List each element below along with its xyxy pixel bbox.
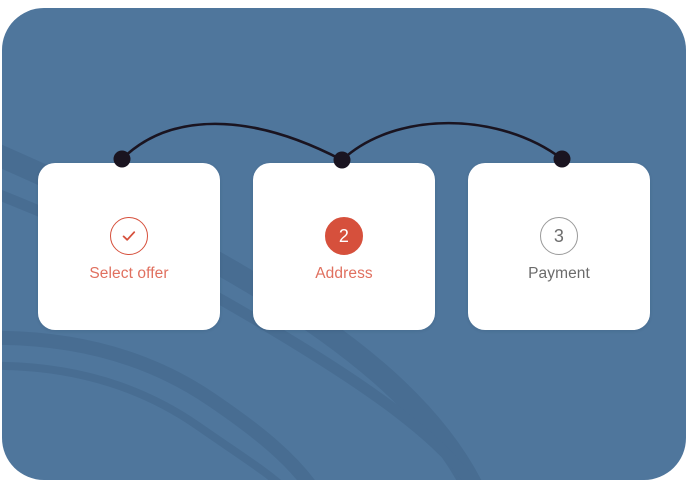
- stepper-cards: Select offer 2 Address 3 Payment: [38, 163, 650, 330]
- wave-line-3: [2, 338, 312, 480]
- step-label-address: Address: [315, 266, 373, 282]
- step-label-payment: Payment: [528, 266, 590, 282]
- step-card-select-offer[interactable]: Select offer: [38, 163, 220, 330]
- check-icon: [119, 226, 139, 246]
- step-badge-completed: [110, 217, 148, 255]
- step-card-address[interactable]: 2 Address: [253, 163, 435, 330]
- step-card-payment[interactable]: 3 Payment: [468, 163, 650, 330]
- step-badge-upcoming: 3: [540, 217, 578, 255]
- step-badge-number-3: 3: [554, 227, 564, 245]
- step-badge-number-2: 2: [339, 227, 349, 245]
- step-label-select-offer: Select offer: [89, 266, 168, 282]
- step-badge-active: 2: [325, 217, 363, 255]
- stepper-screen: Select offer 2 Address 3 Payment: [0, 0, 688, 480]
